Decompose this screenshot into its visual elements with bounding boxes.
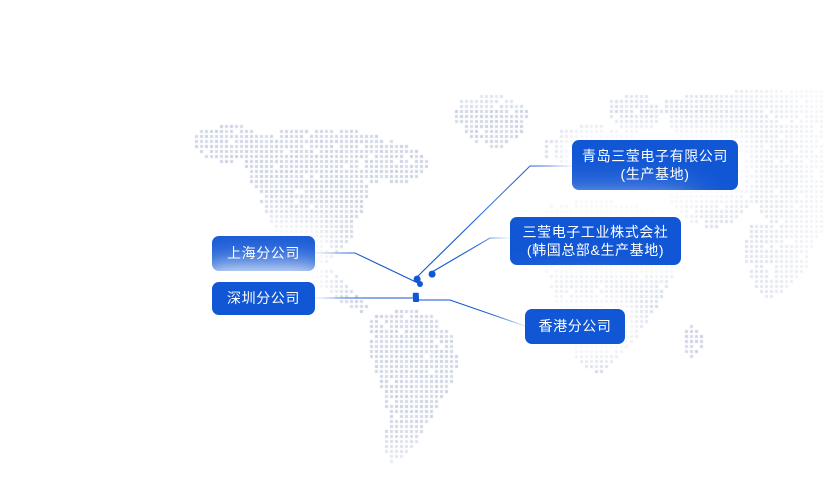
world-map-canvas	[0, 0, 824, 480]
map-label-qingdao[interactable]: 青岛三莹电子有限公司 (生产基地)	[572, 140, 738, 190]
world-map-infographic: 青岛三莹电子有限公司 (生产基地) 三莹电子工业株式会社 (韩国总部&生产基地)…	[0, 0, 824, 480]
label-line-2: (生产基地)	[621, 165, 690, 183]
map-label-shenzhen[interactable]: 深圳分公司	[212, 282, 315, 315]
dotted-world-map	[0, 0, 824, 480]
label-line-1: 青岛三莹电子有限公司	[582, 147, 728, 165]
map-label-shanghai[interactable]: 上海分公司	[212, 236, 315, 271]
label-line-1: 上海分公司	[227, 244, 300, 262]
marker-dot-korea[interactable]	[429, 271, 436, 278]
marker-dot-shanghai[interactable]	[417, 281, 423, 287]
marker-dot-hongkong[interactable]	[413, 296, 419, 302]
map-label-hongkong[interactable]: 香港分公司	[525, 309, 625, 344]
map-label-korea[interactable]: 三莹电子工业株式会社 (韩国总部&生产基地)	[510, 217, 681, 265]
label-line-1: 深圳分公司	[227, 289, 300, 307]
label-line-1: 三莹电子工业株式会社	[523, 223, 669, 241]
label-line-1: 香港分公司	[539, 317, 612, 335]
label-line-2: (韩国总部&生产基地)	[527, 241, 664, 259]
